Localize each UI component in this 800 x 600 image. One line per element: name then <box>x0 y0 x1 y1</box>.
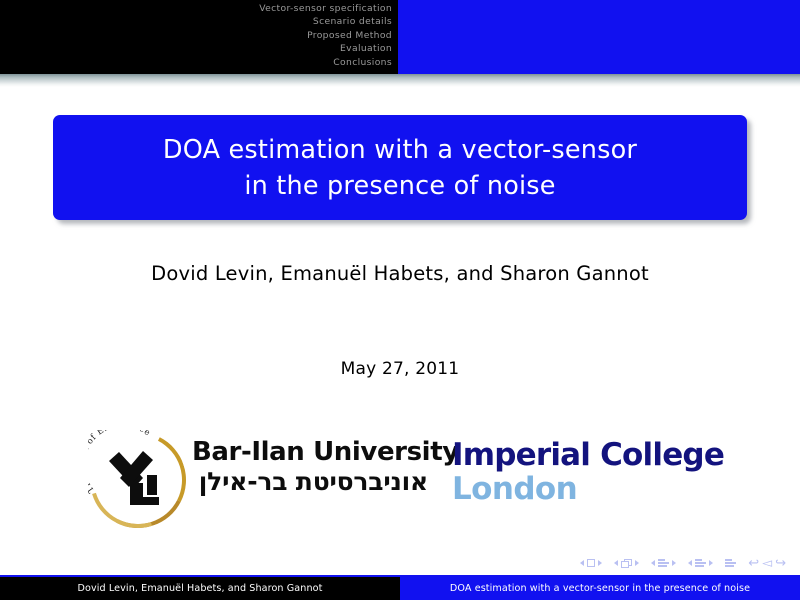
next-section-icon[interactable] <box>709 560 713 566</box>
title-block: DOA estimation with a vector-sensor in t… <box>53 115 747 220</box>
section-navigation-group[interactable] <box>688 559 713 567</box>
history-navigation-group[interactable]: ↩ ◅ ↪ <box>748 557 786 570</box>
footer-author-label: Dovid Levin, Emanuël Habets, and Sharon … <box>78 583 323 594</box>
sidebar-item-evaluation[interactable]: Evaluation <box>259 42 392 55</box>
bar-ilan-university-logo: Tradition of Excellence Bar-Ilan Univers… <box>84 424 429 524</box>
footer-author-panel: Dovid Levin, Emanuël Habets, and Sharon … <box>0 577 400 600</box>
logo-row: Tradition of Excellence Bar-Ilan Univers… <box>0 418 800 533</box>
slide-icon[interactable] <box>587 559 595 567</box>
bar-ilan-name-english: Bar-Ilan University <box>192 437 428 467</box>
bar-ilan-name-hebrew: אוניברסיטת בר-אילן <box>192 467 428 497</box>
slide-footer: Dovid Levin, Emanuël Habets, and Sharon … <box>0 577 800 600</box>
next-slide-icon[interactable] <box>598 560 602 566</box>
previous-slide-icon[interactable] <box>580 560 584 566</box>
page-title-line-2: in the presence of noise <box>244 168 555 204</box>
go-back-icon[interactable]: ↩ <box>748 557 759 570</box>
emblem-monogram-icon <box>103 447 169 509</box>
next-subsection-icon[interactable] <box>672 560 676 566</box>
footer-title-label: DOA estimation with a vector-sensor in t… <box>450 583 750 594</box>
page-title-line-1: DOA estimation with a vector-sensor <box>163 132 637 168</box>
author-list: Dovid Levin, Emanuël Habets, and Sharon … <box>0 262 800 285</box>
bar-ilan-wordmark: Bar-Ilan University אוניברסיטת בר-אילן <box>192 437 428 497</box>
frame-icon[interactable] <box>621 559 632 568</box>
imperial-college-wordmark: Imperial College <box>452 438 722 472</box>
presentation-icon[interactable] <box>725 559 736 567</box>
previous-section-icon[interactable] <box>688 560 692 566</box>
slide-header: Vector-sensor specification Scenario det… <box>0 0 800 74</box>
footer-title-panel: DOA estimation with a vector-sensor in t… <box>400 577 800 600</box>
header-gradient-divider <box>0 74 800 87</box>
previous-subsection-icon[interactable] <box>651 560 655 566</box>
sidebar-item-proposed-method[interactable]: Proposed Method <box>259 29 392 42</box>
sidebar-item-scenario-details[interactable]: Scenario details <box>259 15 392 28</box>
presentation-date: May 27, 2011 <box>0 359 800 379</box>
section-icon[interactable] <box>695 559 706 567</box>
presentation-navigation-group[interactable] <box>725 559 736 567</box>
subsection-icon[interactable] <box>658 559 669 567</box>
header-left-black-panel: Vector-sensor specification Scenario det… <box>0 0 398 74</box>
section-navigation[interactable]: Vector-sensor specification Scenario det… <box>259 2 392 69</box>
frame-navigation-group[interactable] <box>614 559 639 568</box>
imperial-london-wordmark: London <box>452 472 722 506</box>
sidebar-item-conclusions[interactable]: Conclusions <box>259 56 392 69</box>
go-forward-icon[interactable]: ↪ <box>775 557 786 570</box>
slide-navigation-group[interactable] <box>580 559 602 567</box>
next-frame-icon[interactable] <box>635 560 639 566</box>
sidebar-item-vector-sensor-specification[interactable]: Vector-sensor specification <box>259 2 392 15</box>
title-box: DOA estimation with a vector-sensor in t… <box>53 115 747 220</box>
beamer-navigation-symbols[interactable]: ↩ ◅ ↪ <box>580 555 786 571</box>
header-right-blue-panel <box>398 0 800 74</box>
search-icon[interactable]: ◅ <box>762 557 772 570</box>
subsection-navigation-group[interactable] <box>651 559 676 567</box>
imperial-college-london-logo: Imperial College London <box>452 438 722 518</box>
bar-ilan-emblem-icon: Tradition of Excellence <box>84 426 188 526</box>
previous-frame-icon[interactable] <box>614 560 618 566</box>
